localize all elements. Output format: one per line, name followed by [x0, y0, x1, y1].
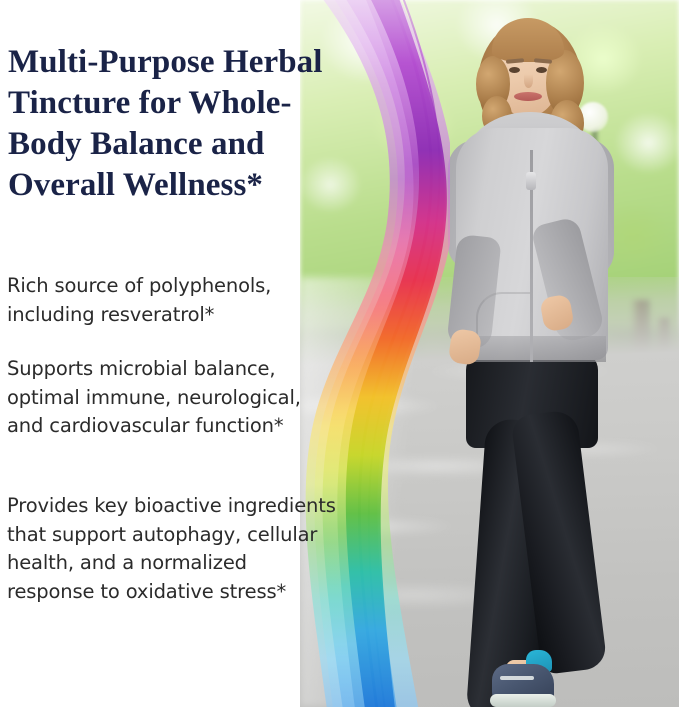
- eye: [536, 67, 547, 73]
- page-title: Multi-Purpose Herbal Tincture for Whole-…: [8, 42, 348, 206]
- zipper-pull: [526, 172, 536, 190]
- benefit-polyphenols: Rich source of polyphenols, including re…: [7, 272, 337, 329]
- shoe-sole: [490, 694, 556, 707]
- mouth: [514, 92, 542, 101]
- product-benefit-poster: Multi-Purpose Herbal Tincture for Whole-…: [0, 0, 679, 707]
- shoe-lace: [500, 676, 534, 680]
- eye: [509, 67, 520, 73]
- hair-top: [492, 18, 564, 62]
- benefit-microbial-balance: Supports microbial balance, optimal immu…: [7, 355, 337, 441]
- nose: [524, 74, 533, 88]
- hoodie-pocket: [476, 292, 530, 348]
- text-column: Multi-Purpose Herbal Tincture for Whole-…: [0, 0, 350, 707]
- benefit-bioactive-ingredients: Provides key bioactive ingredients that …: [7, 492, 337, 606]
